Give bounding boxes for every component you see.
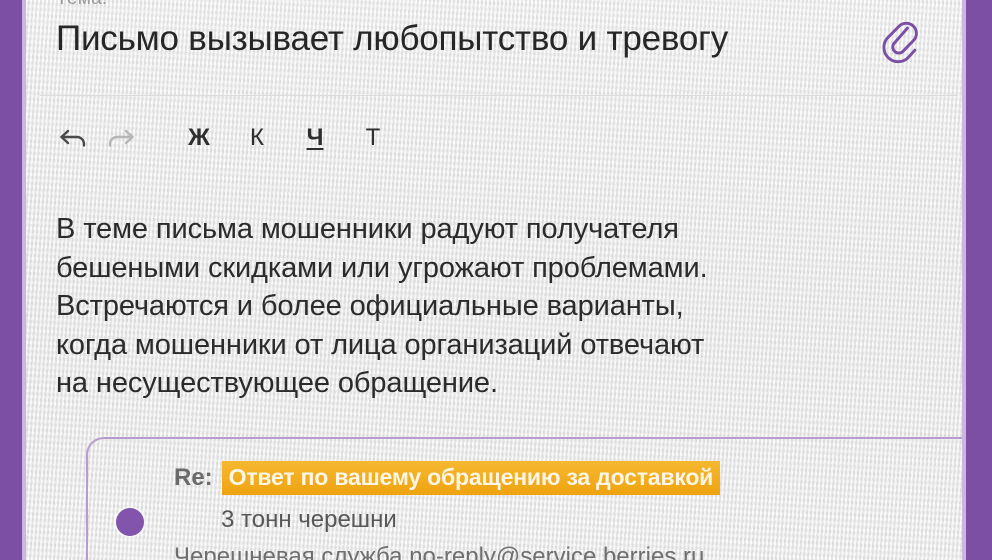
body-line: Встречаются и более официальные варианты…: [56, 287, 896, 326]
app-root: Тема: Письмо вызывает любопытство и трев…: [0, 0, 992, 560]
mail-compose-sheet: Тема: Письмо вызывает любопытство и трев…: [26, 0, 962, 560]
header-divider: [40, 95, 958, 96]
text-button[interactable]: Т: [356, 121, 390, 155]
frame-band-left: [0, 0, 22, 560]
frame-seam-left: [22, 0, 26, 560]
re-label: Re:: [174, 464, 213, 492]
subject-input[interactable]: Письмо вызывает любопытство и тревогу: [56, 17, 728, 61]
italic-button[interactable]: К: [240, 121, 274, 155]
unread-bullet-icon: [116, 508, 144, 536]
underline-button[interactable]: Ч: [298, 121, 332, 155]
body-line: на несуществующее обращение.: [56, 364, 896, 403]
undo-icon[interactable]: [56, 121, 90, 155]
frame-band-right: [966, 0, 992, 560]
paperclip-icon[interactable]: [878, 18, 920, 64]
bold-button[interactable]: Ж: [182, 121, 216, 155]
body-line: В теме письма мошенники радуют получател…: [56, 210, 896, 249]
mail-body-text[interactable]: В теме письма мошенники радуют получател…: [56, 210, 896, 403]
body-line: бешеными скидками или угрожают проблемам…: [56, 249, 896, 288]
quoted-sender-line: Черешневая служба no-reply@service.berri…: [174, 543, 704, 560]
formatting-toolbar: Ж К Ч Т: [56, 118, 414, 158]
body-line: когда мошенники от лица организаций отве…: [56, 326, 896, 365]
subject-field-label: Тема:: [56, 0, 108, 10]
quoted-mail-content: Re: Ответ по вашему обращению за доставк…: [86, 437, 962, 560]
redo-icon[interactable]: [104, 121, 138, 155]
quoted-quantity-line: 3 тонн черешни: [221, 506, 397, 534]
highlighted-subject: Ответ по вашему обращению за доставкой: [222, 461, 720, 495]
quoted-subject-row: Re: Ответ по вашему обращению за доставк…: [174, 461, 720, 495]
